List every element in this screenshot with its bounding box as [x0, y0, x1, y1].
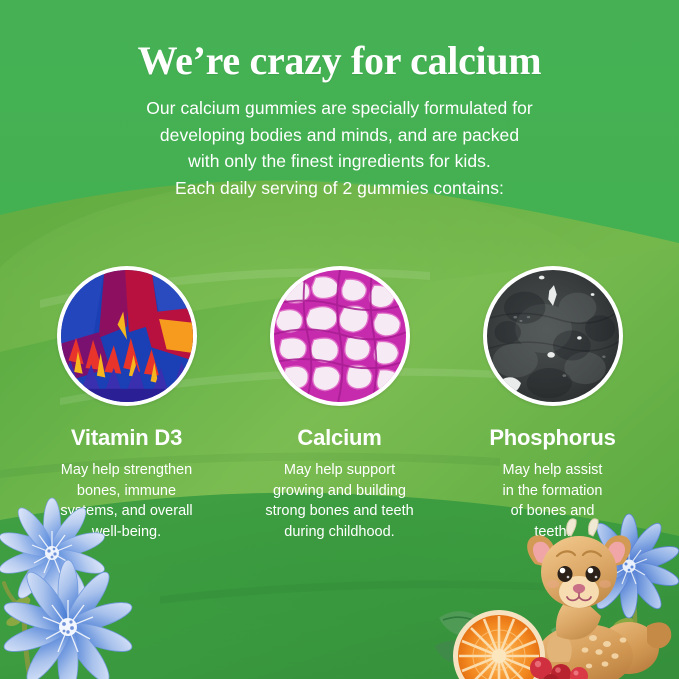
phosphorus-mineral-macro: [487, 270, 619, 402]
vitamin-d3-micrograph: [61, 270, 193, 402]
nutrient-image-frame: [270, 266, 410, 406]
nutrient-title: Calcium: [297, 426, 381, 450]
nutrient-title: Phosphorus: [489, 426, 615, 450]
intro-paragraph: Our calcium gummies are specially formul…: [0, 95, 679, 201]
nutrient-column-phosphorus: Phosphorus May help assist in the format…: [447, 266, 658, 543]
desc-line: during childhood.: [265, 522, 413, 543]
nutrient-description: May help strengthen bones, immune system…: [48, 460, 204, 542]
intro-line-4: Each daily serving of 2 gummies contains…: [60, 175, 619, 202]
intro-line-1: Our calcium gummies are specially formul…: [60, 95, 619, 122]
calcium-bone-micrograph: [274, 270, 406, 402]
desc-line: teeth.: [503, 522, 603, 543]
nutrient-column-calcium: Calcium May help support growing and bui…: [232, 266, 447, 543]
nutrient-image-frame: [483, 266, 623, 406]
desc-line: growing and building: [265, 481, 413, 502]
desc-line: May help strengthen: [60, 460, 192, 481]
nutrient-image-frame: [57, 266, 197, 406]
nutrient-description: May help assist in the formation of bone…: [491, 460, 615, 542]
page-title: We’re crazy for calcium: [0, 40, 679, 82]
desc-line: May help support: [265, 460, 413, 481]
desc-line: May help assist: [503, 460, 603, 481]
intro-line-2: developing bodies and minds, and are pac…: [60, 122, 619, 149]
nutrient-title: Vitamin D3: [71, 426, 182, 450]
desc-line: well-being.: [60, 522, 192, 543]
desc-line: in the formation: [503, 481, 603, 502]
nutrient-columns: Vitamin D3 May help strengthen bones, im…: [0, 266, 679, 543]
intro-line-3: with only the finest ingredients for kid…: [60, 148, 619, 175]
desc-line: bones, immune: [60, 481, 192, 502]
nutrient-description: May help support growing and building st…: [253, 460, 425, 542]
desc-line: of bones and: [503, 501, 603, 522]
desc-line: systems, and overall: [60, 501, 192, 522]
desc-line: strong bones and teeth: [265, 501, 413, 522]
infographic-panel: We’re crazy for calcium Our calcium gumm…: [0, 0, 679, 679]
nutrient-column-vitamin-d3: Vitamin D3 May help strengthen bones, im…: [21, 266, 232, 543]
header-block: We’re crazy for calcium Our calcium gumm…: [0, 0, 679, 201]
